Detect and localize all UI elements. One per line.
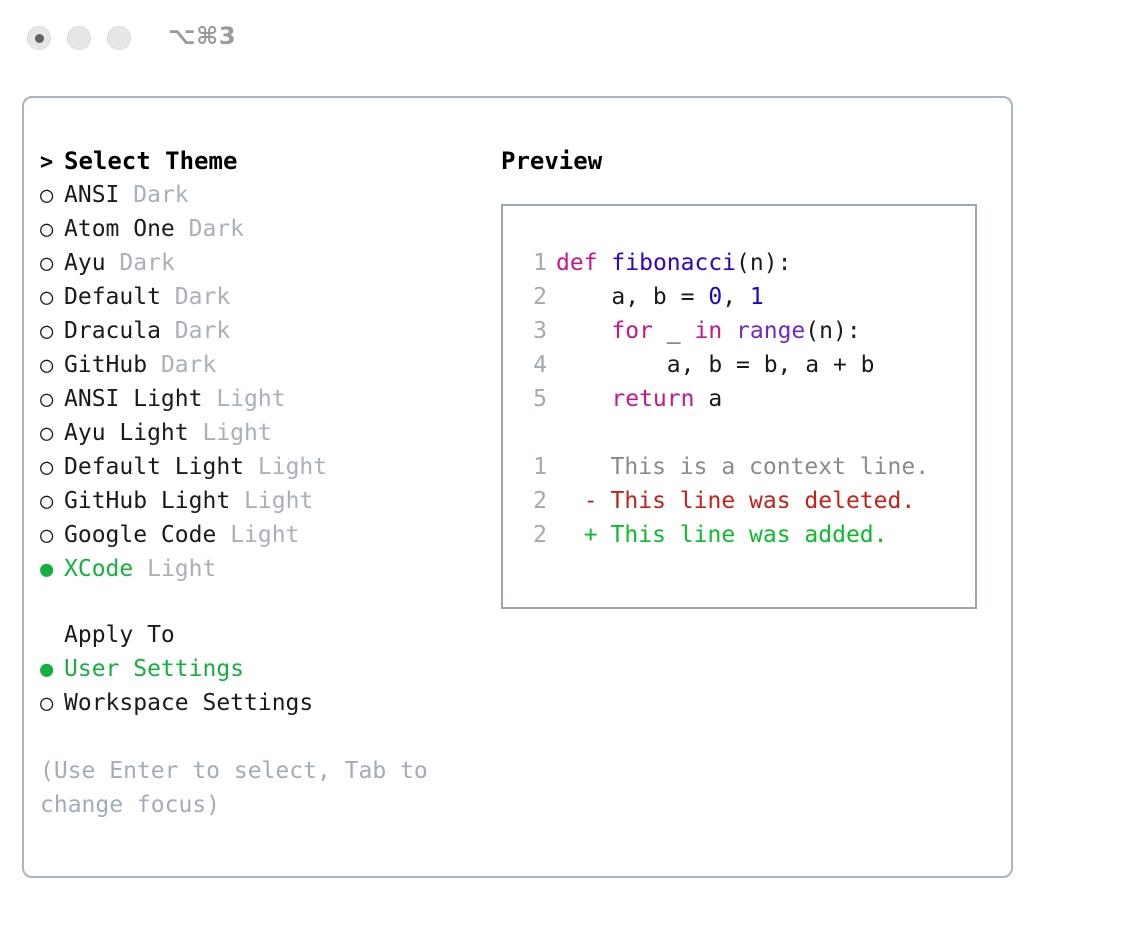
theme-name: GitHub Light [64,488,230,514]
apply-to-label: Apply To [64,622,175,648]
theme-variant-badge: Light [202,420,271,446]
theme-name: Google Code [64,522,216,548]
app-window: ⌥⌘3 >Select Theme ○ANSI Dark○Atom One Da… [0,0,1140,934]
code-token: a, b = b, a + b [556,352,875,378]
code-token: (n): [736,250,791,276]
diff-sign: + [584,518,597,552]
theme-list-item[interactable]: ○Ayu Light Light [40,416,480,450]
code-token [556,386,611,412]
radio-unselected-icon: ○ [40,485,64,519]
theme-list-header: >Select Theme [40,144,480,178]
theme-list-item[interactable]: ○Default Light Light [40,450,480,484]
code-token: fibonacci [611,250,736,276]
line-number: 2 [521,518,547,552]
code-token: 0 [708,284,722,310]
theme-name: Atom One [64,216,175,242]
radio-unselected-icon: ○ [40,349,64,383]
code-token [598,250,612,276]
code-token: _ [653,318,695,344]
theme-name: ANSI [64,182,119,208]
theme-name: Dracula [64,318,161,344]
apply-to-header: ○Apply To [40,618,480,652]
theme-name: Default Light [64,454,244,480]
line-number: 2 [521,280,547,314]
theme-name: Ayu Light [64,420,189,446]
traffic-light-active-dot [35,34,44,43]
theme-list-item[interactable]: ○GitHub Light Light [40,484,480,518]
code-token: (n): [805,318,860,344]
radio-unselected-icon: ○ [40,315,64,349]
code-line: 3 for _ in range(n): [521,314,975,348]
diff-text: This line was deleted. [597,488,916,514]
diff-sign [584,450,597,484]
theme-list-item[interactable]: ○Atom One Dark [40,212,480,246]
preview-box: 1def fibonacci(n):2 a, b = 0, 13 for _ i… [501,204,977,609]
apply-to-option-label: User Settings [64,656,244,682]
theme-name: XCode [64,556,133,582]
theme-variant-badge: Light [147,556,216,582]
code-token: 1 [750,284,764,310]
radio-selected-icon: ● [40,653,64,687]
theme-list-item[interactable]: ○ANSI Dark [40,178,480,212]
radio-unselected-icon: ○ [40,451,64,485]
code-token [722,318,736,344]
diff-line: 2 + This line was added. [521,518,975,552]
diff-line-body: - This line was deleted. [556,488,915,514]
hint-spacer [40,720,480,754]
radio-unselected-icon: ○ [40,179,64,213]
radio-selected-icon: ● [40,553,64,587]
prompt-caret-icon: > [40,146,64,180]
code-line: 4 a, b = b, a + b [521,348,975,382]
theme-variant-badge: Light [216,386,285,412]
diff-line: 2 - This line was deleted. [521,484,975,518]
code-line: 2 a, b = 0, 1 [521,280,975,314]
line-number: 1 [521,450,547,484]
traffic-light-maximize[interactable] [107,26,131,50]
line-number: 1 [521,246,547,280]
code-token: def [556,250,598,276]
theme-list-item[interactable]: ○Google Code Light [40,518,480,552]
radio-unselected-icon: ○ [40,247,64,281]
radio-unselected-icon: ○ [40,383,64,417]
diff-sign: - [584,484,597,518]
apply-to-option[interactable]: ●User Settings [40,652,480,686]
radio-unselected-icon: ○ [40,213,64,247]
apply-to-marker-placeholder: ○ [40,619,64,653]
diff-text: This is a context line. [597,454,929,480]
theme-variant-badge: Dark [189,216,244,242]
theme-selector-panel: >Select Theme ○ANSI Dark○Atom One Dark○A… [40,144,480,822]
diff-text: This line was added. [597,522,888,548]
theme-list-item[interactable]: ○GitHub Dark [40,348,480,382]
traffic-light-minimize[interactable] [67,26,91,50]
code-line: 5 return a [521,382,975,416]
theme-variant-badge: Light [244,488,313,514]
preview-title: Preview [501,144,991,178]
preview-panel: Preview 1def fibonacci(n):2 a, b = 0, 13… [501,144,991,609]
diff-sample: 1 This is a context line.2 - This line w… [521,450,975,552]
diff-line: 1 This is a context line. [521,450,975,484]
apply-to-option-label: Workspace Settings [64,690,313,716]
dialog-frame: >Select Theme ○ANSI Dark○Atom One Dark○A… [22,96,1013,878]
theme-variant-badge: Dark [133,182,188,208]
theme-list-item[interactable]: ○Default Dark [40,280,480,314]
traffic-light-close[interactable] [27,26,51,50]
radio-unselected-icon: ○ [40,519,64,553]
keyboard-shortcut-label: ⌥⌘3 [168,22,236,50]
theme-list-item[interactable]: ○Dracula Dark [40,314,480,348]
code-token: return [611,386,694,412]
code-token: range [736,318,805,344]
line-number: 2 [521,484,547,518]
theme-variant-badge: Light [230,522,299,548]
theme-name: Default [64,284,161,310]
line-number: 5 [521,382,547,416]
theme-list-item[interactable]: ○ANSI Light Light [40,382,480,416]
radio-unselected-icon: ○ [40,281,64,315]
section-spacer [40,586,480,618]
theme-list: ○ANSI Dark○Atom One Dark○Ayu Dark○Defaul… [40,178,480,586]
theme-name: Ayu [64,250,106,276]
diff-spacer [521,416,975,450]
code-token: a, b = [556,284,708,310]
theme-name: GitHub [64,352,147,378]
title-bar: ⌥⌘3 [0,0,1140,78]
theme-list-item[interactable]: ○Ayu Dark [40,246,480,280]
theme-variant-badge: Dark [119,250,174,276]
code-token: a [694,386,722,412]
theme-name: ANSI Light [64,386,202,412]
code-token: , [722,284,750,310]
diff-line-body: + This line was added. [556,522,888,548]
theme-variant-badge: Dark [175,318,230,344]
code-line: 1def fibonacci(n): [521,246,975,280]
theme-list-header-label: Select Theme [64,147,237,175]
apply-to-options: ●User Settings○Workspace Settings [40,652,480,720]
line-number: 3 [521,314,547,348]
theme-variant-badge: Dark [175,284,230,310]
keyboard-hint: (Use Enter to select, Tab to change focu… [40,754,460,822]
diff-line-body: This is a context line. [556,454,929,480]
code-token: for [611,318,653,344]
radio-unselected-icon: ○ [40,687,64,721]
radio-unselected-icon: ○ [40,417,64,451]
theme-variant-badge: Dark [161,352,216,378]
line-number: 4 [521,348,547,382]
theme-variant-badge: Light [258,454,327,480]
apply-to-option[interactable]: ○Workspace Settings [40,686,480,720]
theme-list-item[interactable]: ●XCode Light [40,552,480,586]
code-token: in [694,318,722,344]
code-token [556,318,611,344]
code-sample: 1def fibonacci(n):2 a, b = 0, 13 for _ i… [521,246,975,416]
